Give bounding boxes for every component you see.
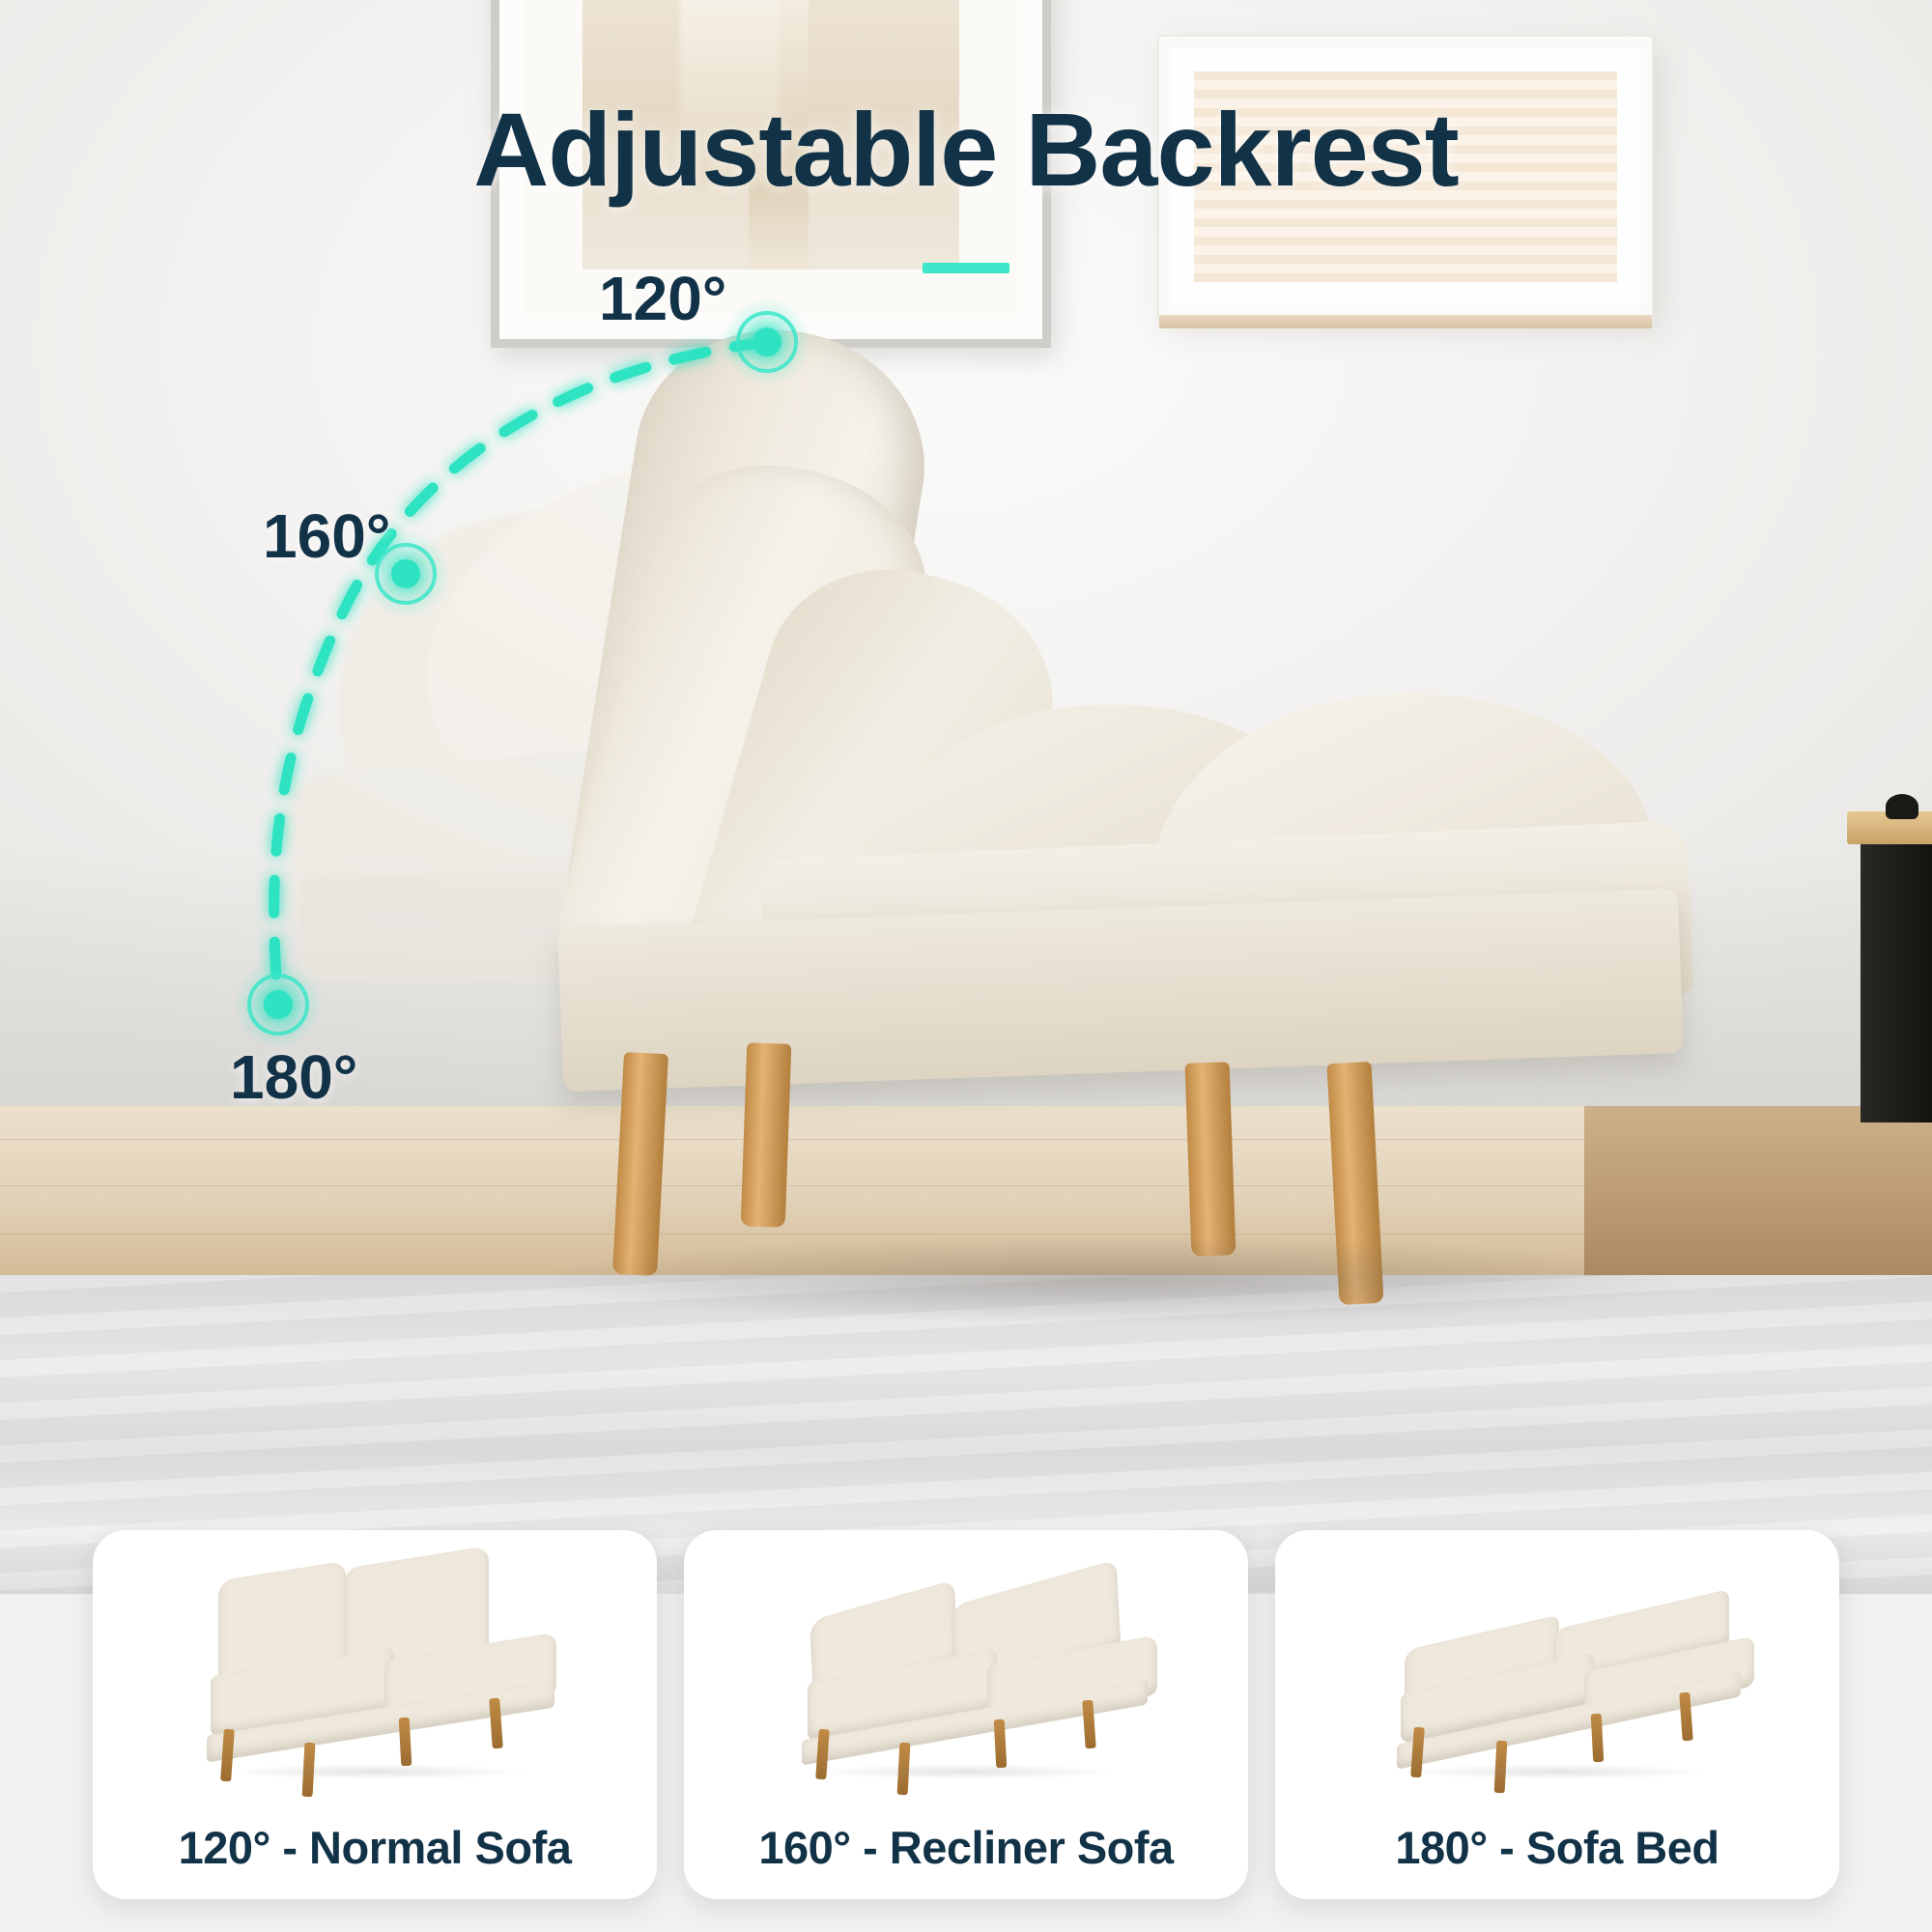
mode-card-label: 120° - Normal Sofa — [179, 1821, 572, 1874]
angle-label-180: 180° — [230, 1041, 357, 1113]
angle-diagram: 120° 160° 180° — [0, 0, 1932, 1256]
angle-label-120: 120° — [599, 263, 726, 334]
mode-card-label: 180° - Sofa Bed — [1395, 1821, 1719, 1874]
mini-sofa-180 — [1275, 1544, 1839, 1785]
mode-card-label: 160° - Recliner Sofa — [758, 1821, 1173, 1874]
mode-card-recliner[interactable]: 160° - Recliner Sofa — [684, 1530, 1248, 1899]
mode-card-normal[interactable]: 120° - Normal Sofa — [93, 1530, 657, 1899]
mini-sofa-120 — [93, 1544, 657, 1785]
mode-cards: 120° - Normal Sofa 160° - Recliner Sofa — [0, 1526, 1932, 1932]
mode-card-bed[interactable]: 180° - Sofa Bed — [1275, 1530, 1839, 1899]
marker-dot-icon — [391, 559, 420, 588]
marker-dot-icon — [264, 990, 293, 1019]
angle-arc-path — [274, 342, 767, 1005]
angle-marker-120[interactable] — [736, 311, 798, 373]
angle-marker-180[interactable] — [247, 974, 309, 1036]
marker-dot-icon — [753, 327, 781, 356]
angle-marker-160[interactable] — [375, 543, 437, 605]
product-infographic: Adjustable Backrest 120° 160° 180° — [0, 0, 1932, 1932]
mini-sofa-160 — [684, 1544, 1248, 1785]
